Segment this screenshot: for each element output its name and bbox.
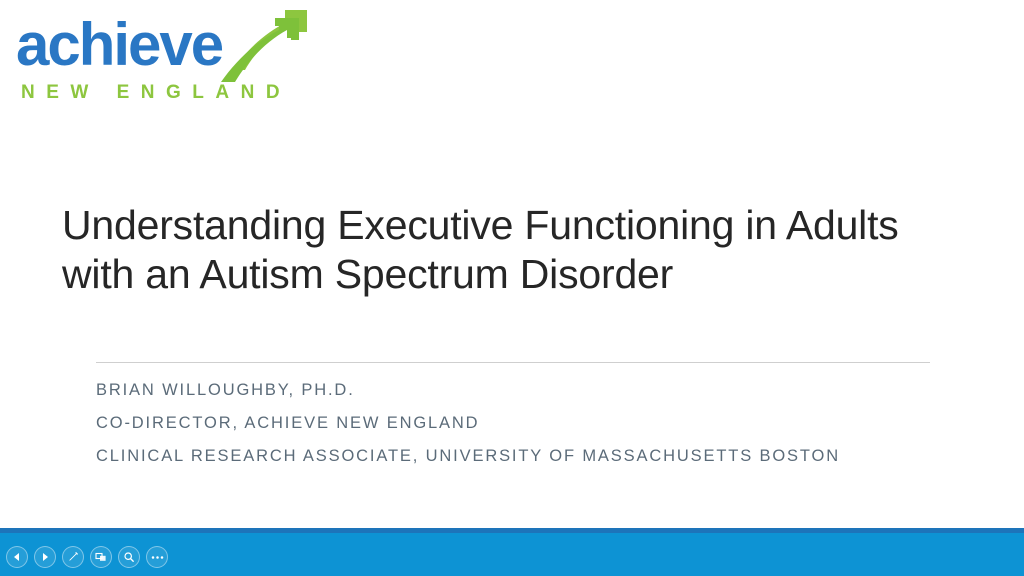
brand-logo: achieve: [10, 8, 310, 104]
logo-tagline: NEW ENGLAND: [21, 82, 291, 104]
double-chevron-arrow-icon: [215, 8, 311, 84]
presenter-info: BRIAN WILLOUGHBY, PH.D. CO-DIRECTOR, ACH…: [96, 374, 976, 473]
logo-wordmark: achieve: [16, 14, 222, 76]
more-options-button[interactable]: [146, 546, 168, 568]
player-controls-group: [6, 546, 168, 568]
ellipsis-icon: [151, 555, 164, 560]
next-slide-button[interactable]: [34, 546, 56, 568]
triangle-left-icon: [12, 552, 22, 562]
magnifier-icon: [123, 551, 135, 563]
pen-tool-button[interactable]: [62, 546, 84, 568]
triangle-right-icon: [40, 552, 50, 562]
slides-grid-icon: [95, 551, 107, 563]
pen-icon: [67, 551, 79, 563]
previous-slide-button[interactable]: [6, 546, 28, 568]
subtitle-divider: [96, 362, 930, 363]
slide-title: Understanding Executive Functioning in A…: [62, 201, 962, 299]
slide-surface: achieve: [0, 0, 1024, 528]
presenter-role: CO-DIRECTOR, ACHIEVE NEW ENGLAND: [96, 407, 976, 440]
presenter-affiliation: CLINICAL RESEARCH ASSOCIATE, UNIVERSITY …: [96, 440, 976, 473]
player-toolbar: [0, 528, 1024, 576]
zoom-button[interactable]: [118, 546, 140, 568]
presenter-name: BRIAN WILLOUGHBY, PH.D.: [96, 374, 976, 407]
slides-overview-button[interactable]: [90, 546, 112, 568]
